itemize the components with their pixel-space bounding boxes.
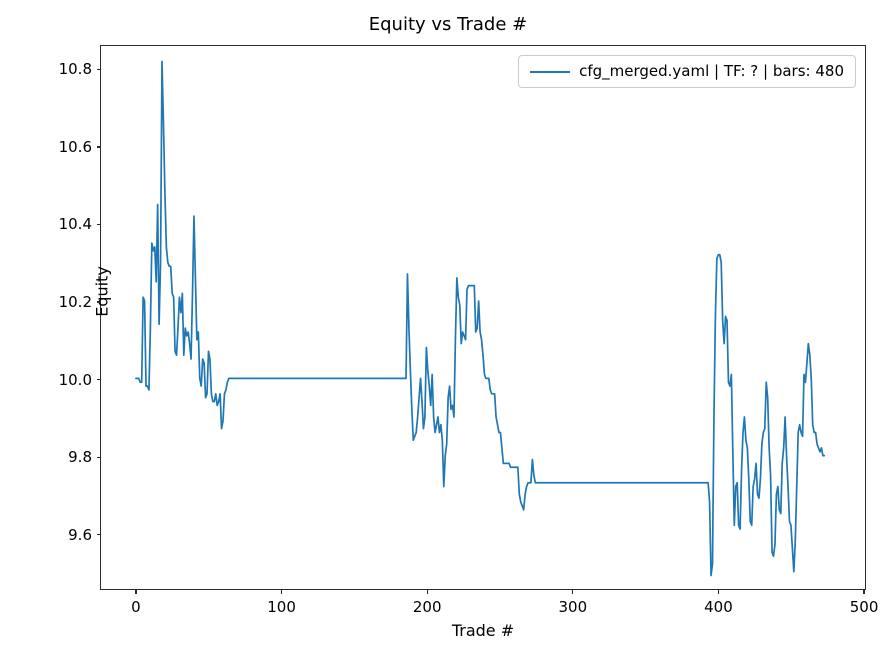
y-tick-label: 10.4 xyxy=(59,215,92,233)
x-tick-mark xyxy=(863,589,864,594)
x-tick-label: 400 xyxy=(704,598,733,616)
y-tick-label: 9.8 xyxy=(68,448,92,466)
legend-entry-label: cfg_merged.yaml | TF: ? | bars: 480 xyxy=(579,63,844,80)
equity-line-plot xyxy=(101,46,865,589)
y-tick-mark xyxy=(97,224,102,225)
legend-line-swatch xyxy=(530,71,570,73)
x-tick-label: 100 xyxy=(267,598,296,616)
y-tick-label: 10.6 xyxy=(59,138,92,156)
x-tick-label: 300 xyxy=(559,598,588,616)
y-tick-mark xyxy=(97,457,102,458)
x-axis-label: Trade # xyxy=(101,621,865,640)
y-axis-label: Equity xyxy=(93,212,112,372)
x-tick-mark xyxy=(135,589,136,594)
y-tick-label: 9.6 xyxy=(68,526,92,544)
chart-title: Equity vs Trade # xyxy=(0,14,896,36)
y-tick-label: 10.0 xyxy=(59,371,92,389)
x-tick-label: 200 xyxy=(413,598,442,616)
x-tick-mark xyxy=(281,589,282,594)
x-tick-mark xyxy=(718,589,719,594)
y-tick-mark xyxy=(97,379,102,380)
y-tick-mark xyxy=(97,69,102,70)
x-tick-mark xyxy=(572,589,573,594)
x-tick-label: 500 xyxy=(850,598,879,616)
x-tick-mark xyxy=(427,589,428,594)
y-tick-mark xyxy=(97,534,102,535)
x-tick-label: 0 xyxy=(131,598,141,616)
plot-area: Equity Trade # 9.69.810.010.210.410.610.… xyxy=(100,45,866,590)
y-tick-mark xyxy=(97,146,102,147)
y-tick-mark xyxy=(97,301,102,302)
y-tick-label: 10.8 xyxy=(59,60,92,78)
chart-figure: Equity vs Trade # Equity Trade # 9.69.81… xyxy=(0,0,896,672)
y-tick-label: 10.2 xyxy=(59,293,92,311)
chart-legend: cfg_merged.yaml | TF: ? | bars: 480 xyxy=(518,55,856,88)
equity-series-line xyxy=(136,61,824,575)
